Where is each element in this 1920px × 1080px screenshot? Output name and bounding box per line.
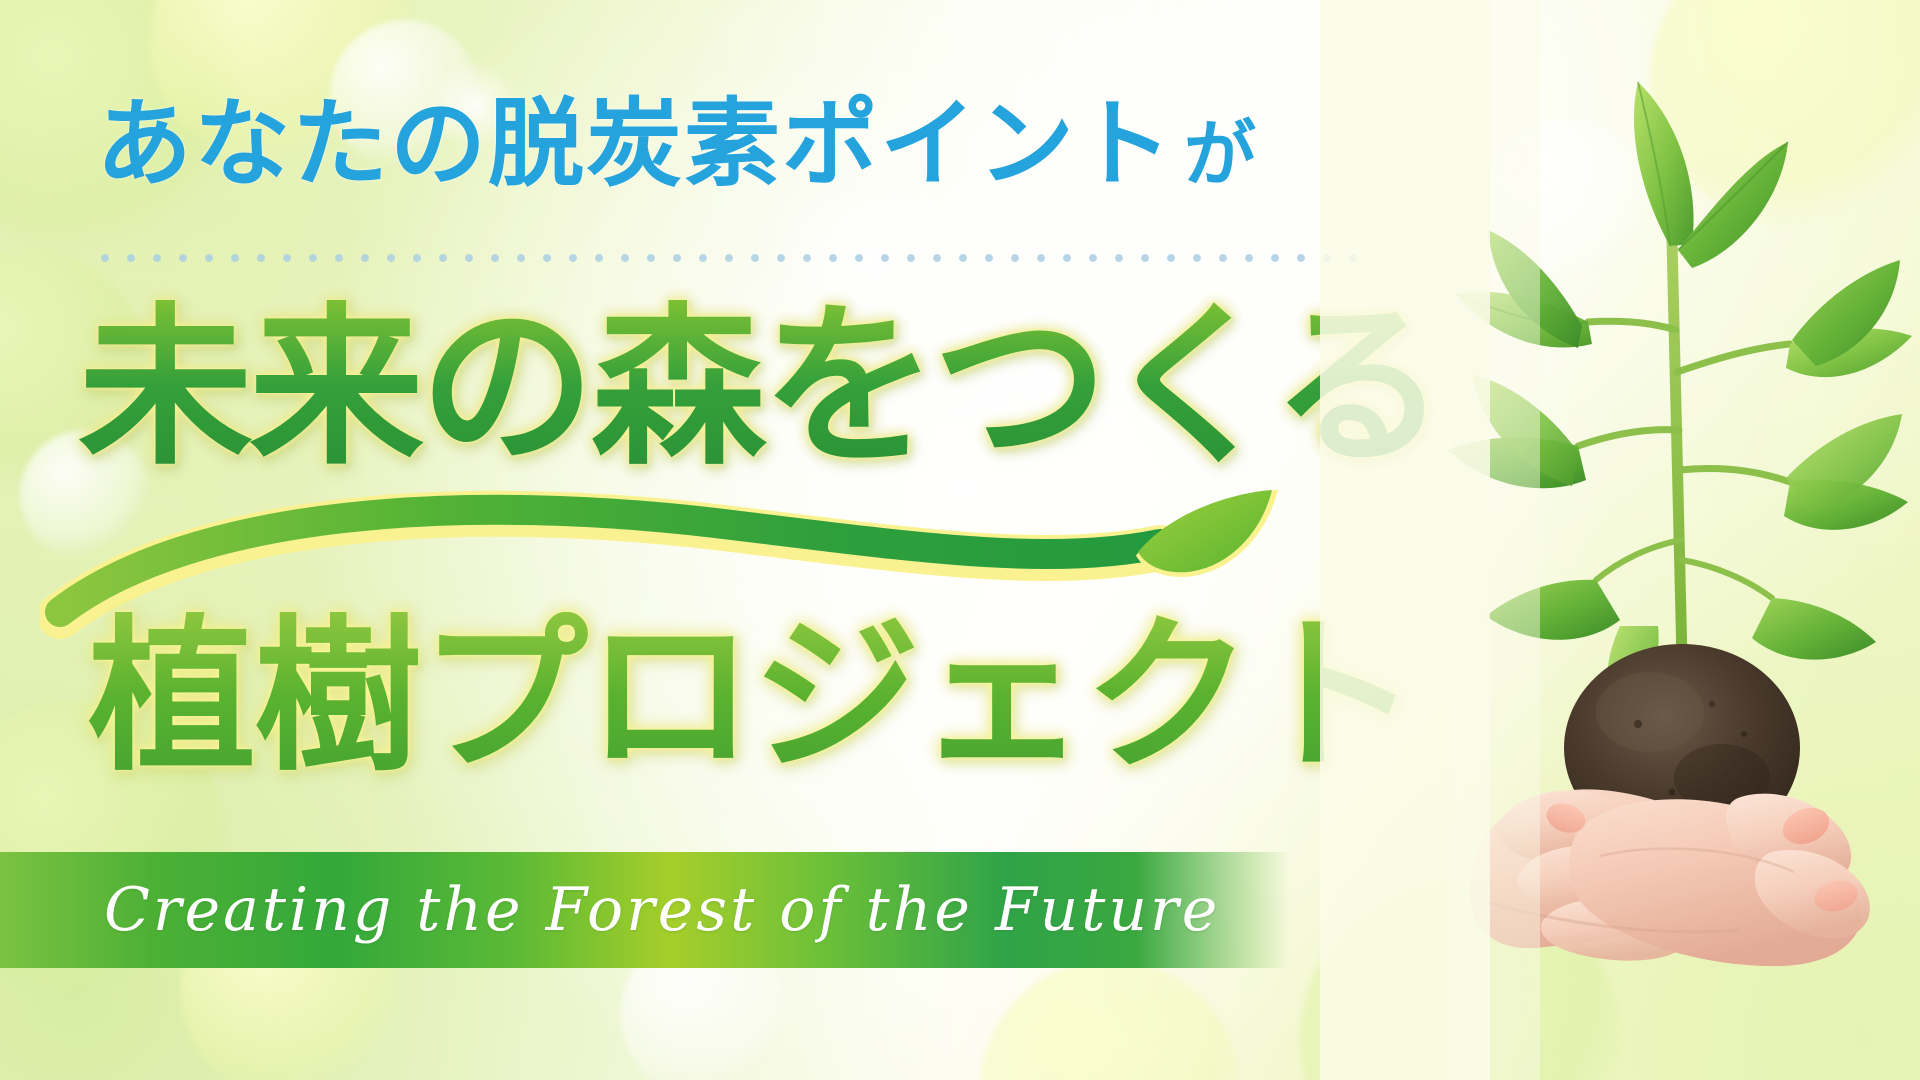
headline-line-1: あなたの脱炭素ポイントが <box>96 96 1258 192</box>
promotional-banner: あなたの脱炭素ポイントが <box>0 0 1920 1080</box>
seedling-photo <box>1320 0 1920 1080</box>
headline-line-1-particle: が <box>1184 112 1258 196</box>
headline-line-3: 植樹プロジェクト <box>88 612 1416 780</box>
leaf-icon <box>1136 490 1278 577</box>
hands-holding-seedling-illustration <box>1320 0 1920 1080</box>
subtitle-english: Creating the Forest of the Future <box>104 875 1220 945</box>
plant-stem <box>1672 240 1682 660</box>
dotted-divider <box>92 252 1358 264</box>
headline-line-2: 未来の森をつくる <box>78 300 1443 475</box>
headline-line-1-main: あなたの脱炭素ポイント <box>96 88 1174 200</box>
headline-block: あなたの脱炭素ポイントが <box>0 0 1390 870</box>
subtitle-band: Creating the Forest of the Future <box>0 852 1290 968</box>
